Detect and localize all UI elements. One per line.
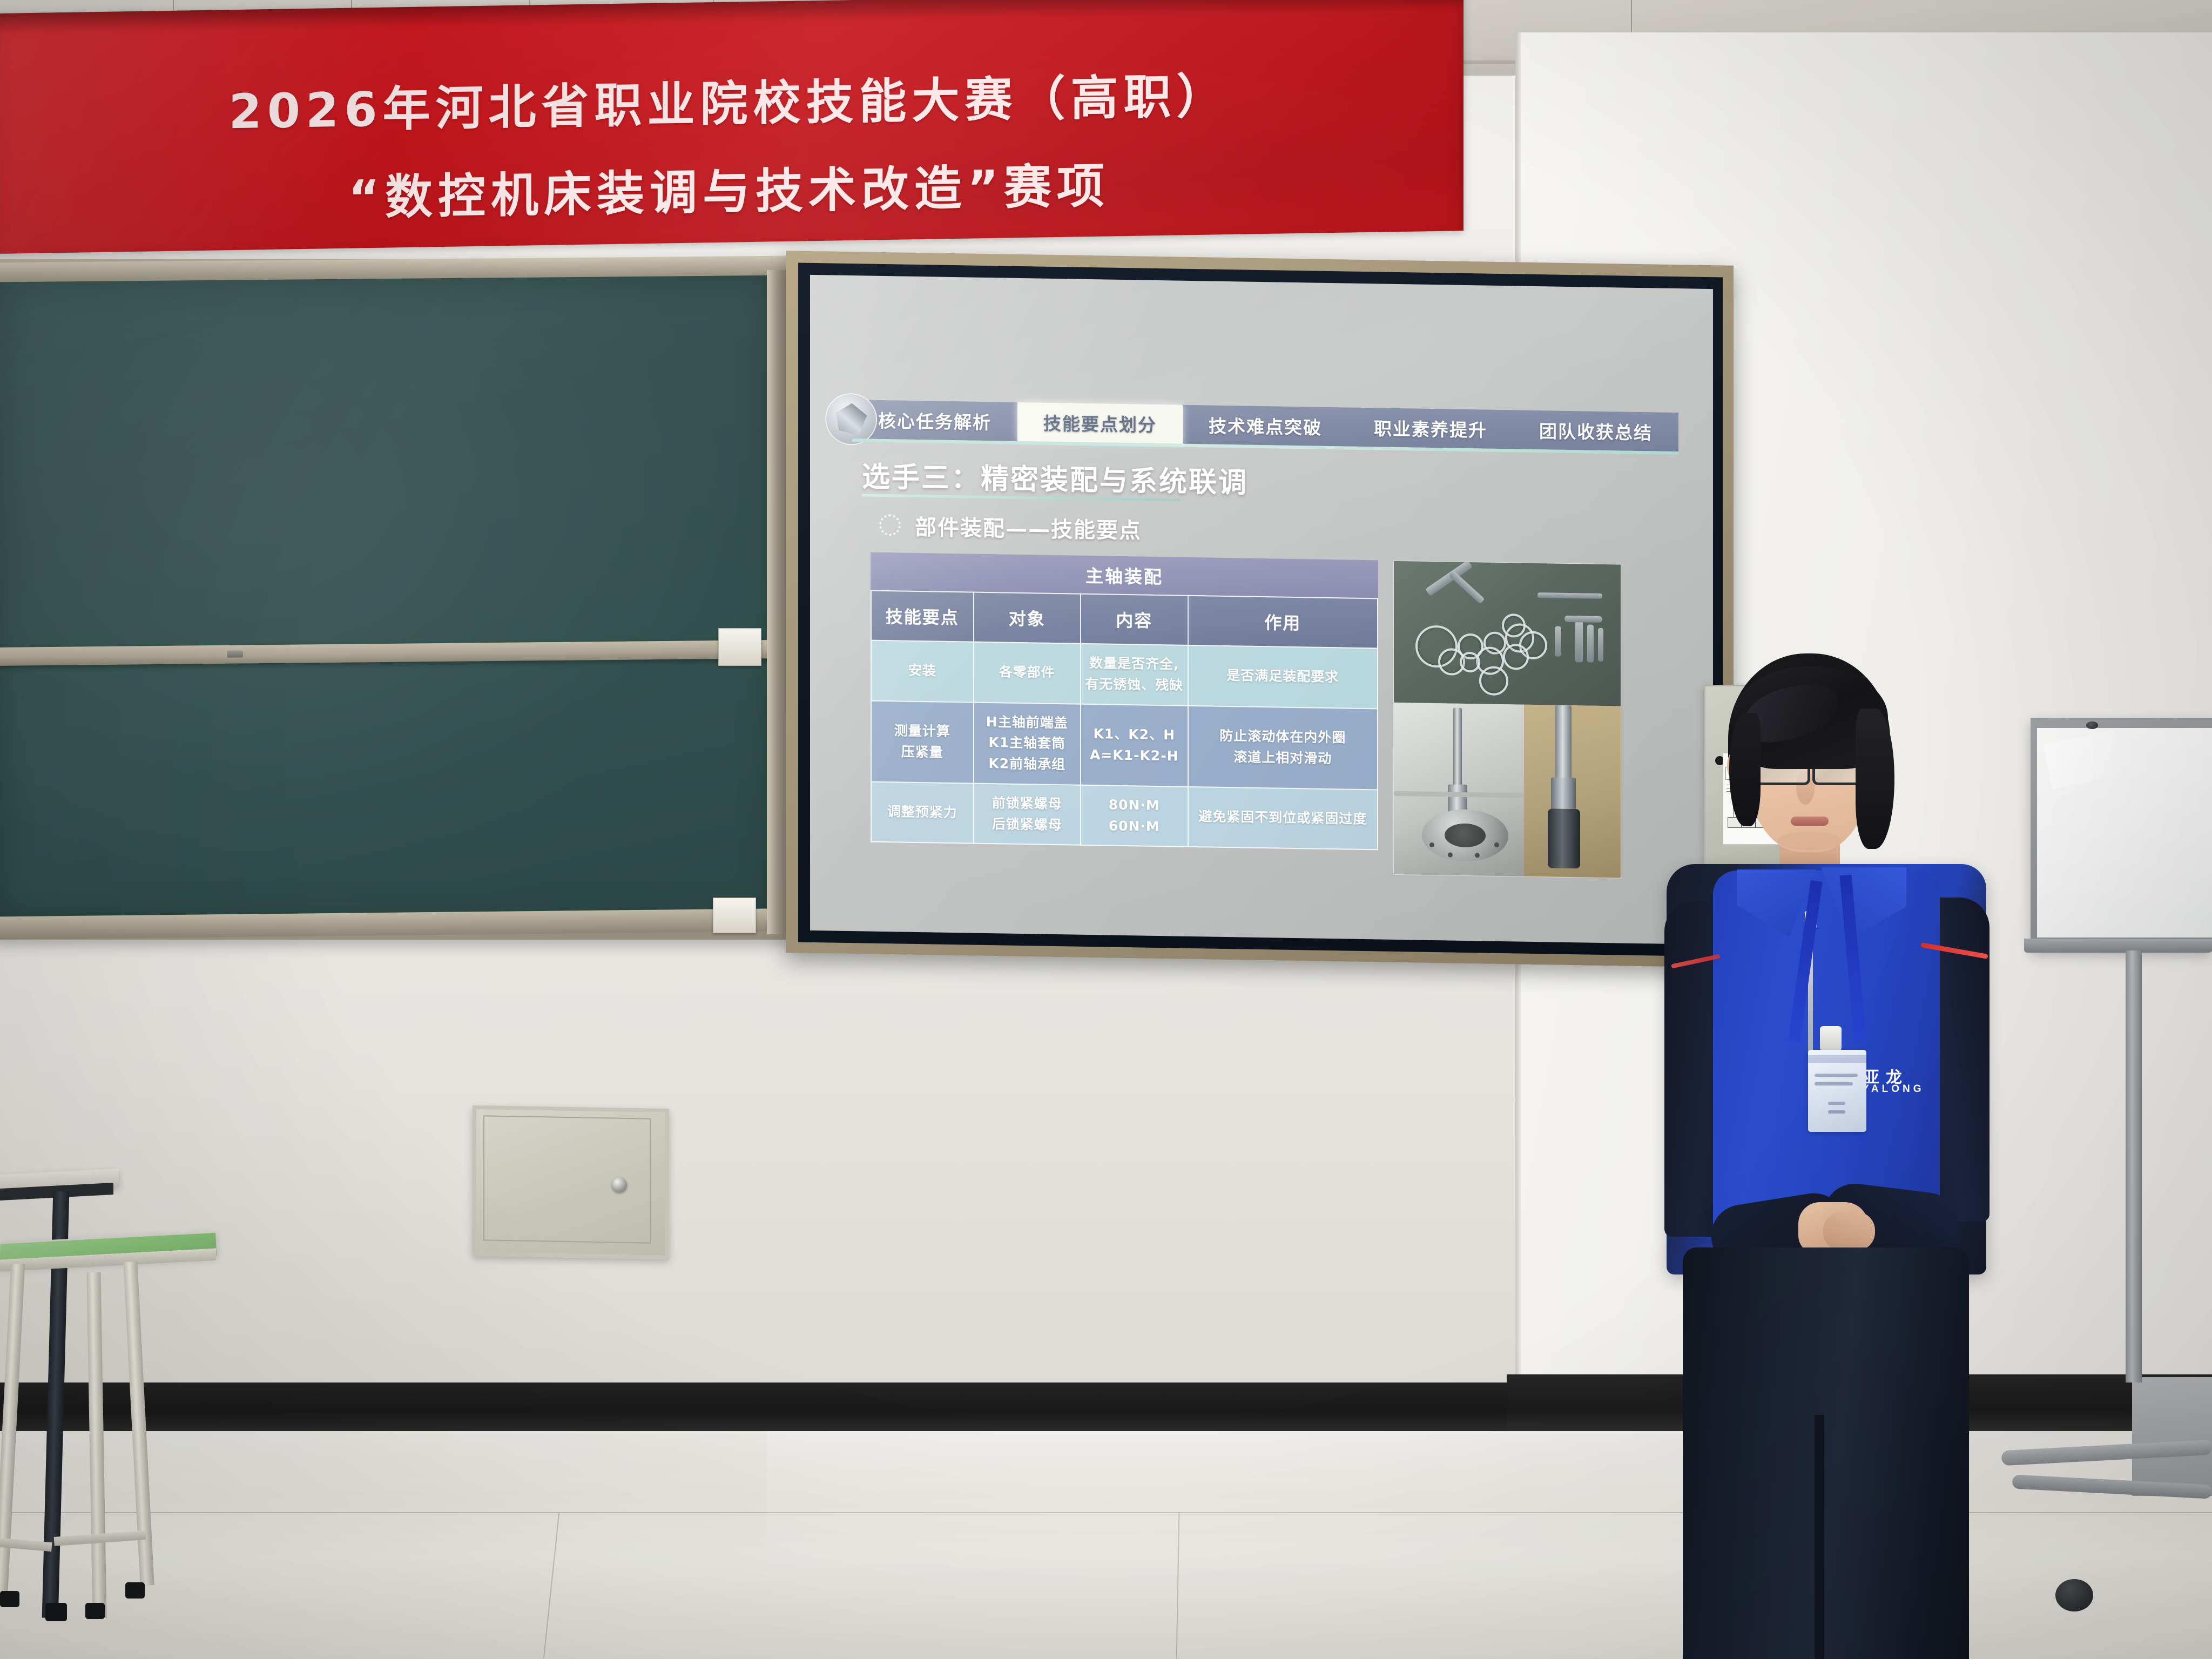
slide-bullet-text: 部件装配——技能要点 — [915, 510, 1142, 545]
table-row: 测量计算压紧量 H主轴前端盖K1主轴套筒K2前轴承组 K1、K2、HA=K1-K… — [871, 700, 1378, 790]
table-row: 安装 各零部件 数量是否齐全,有无锈蚀、残缺 是否满足装配要求 — [871, 640, 1378, 709]
cell-content: K1、K2、HA=K1-K2-H — [1081, 704, 1188, 786]
mouth — [1791, 817, 1829, 826]
projection-screen-surface[interactable]: 核心任务解析 技能要点划分 技术难点突破 职业素养提升 团队收获总结 选手三：精… — [810, 275, 1713, 945]
slide-photo-bottom-row — [1394, 703, 1621, 878]
slide-title: 选手三：精密装配与系统联调 — [862, 454, 1248, 500]
cell-skill-point: 安装 — [871, 640, 974, 702]
stool-foot-cap-2 — [125, 1582, 145, 1599]
hair-side-left — [1729, 713, 1761, 826]
cell-content: 数量是否齐全,有无锈蚀、残缺 — [1081, 644, 1188, 706]
stool-foot-cap-3 — [0, 1591, 19, 1607]
col-header-3: 作用 — [1188, 596, 1378, 649]
blackboard-slide-clip-lower[interactable] — [713, 898, 756, 933]
cell-purpose: 是否满足装配要求 — [1188, 645, 1378, 709]
cell-object: 各零部件 — [974, 642, 1081, 704]
bearing-parts-photo — [1394, 561, 1621, 706]
blackboard-surface — [0, 269, 782, 927]
mobile-whiteboard-surface[interactable] — [2037, 728, 2212, 938]
brand-name-en: YALONG — [1862, 1083, 1925, 1095]
cell-purpose: 避免紧固不到位或紧固过度 — [1188, 787, 1378, 850]
competition-banner: 2026年河北省职业院校技能大赛（高职） “数控机床装调与技术改造”赛项 — [0, 0, 1464, 254]
classroom-scene: 2026年河北省职业院校技能大赛（高职） “数控机床装调与技术改造”赛项 核心任… — [0, 0, 2212, 1659]
slide-photo-column — [1393, 561, 1621, 879]
spindle-assembly-table-wrap: 主轴装配 技能要点 对象 内容 作用 安装 各零部件 — [871, 552, 1378, 851]
cell-skill-point: 测量计算压紧量 — [871, 700, 974, 783]
cell-object: 前锁紧螺母后锁紧螺母 — [974, 783, 1081, 845]
id-badge — [1808, 1050, 1866, 1132]
banner-line-1: 2026年河北省职业院校技能大赛（高职） — [0, 54, 1464, 146]
chin — [1778, 832, 1842, 850]
nav-tab-2[interactable]: 技术难点突破 — [1183, 405, 1348, 447]
wall-access-panel-inner — [483, 1115, 651, 1243]
whiteboard-stand-box — [2132, 1377, 2212, 1496]
whiteboard-stand-post — [2126, 950, 2142, 1382]
dotted-ring-bullet-icon — [879, 514, 901, 536]
torque-wrench-photo — [1524, 705, 1621, 878]
col-header-2: 内容 — [1081, 594, 1188, 645]
presentation-slide: 核心任务解析 技能要点划分 技术难点突破 职业素养提升 团队收获总结 选手三：精… — [810, 275, 1713, 945]
blackboard-right-post — [767, 270, 788, 934]
round-lock-icon[interactable] — [612, 1177, 627, 1192]
spindle-photo-icon — [825, 393, 877, 446]
nav-tab-1[interactable]: 技能要点划分 — [1017, 402, 1183, 444]
col-header-1: 对象 — [974, 592, 1081, 644]
banner-line-2: “数控机床装调与技术改造”赛项 — [0, 142, 1464, 234]
hand-right — [1823, 1212, 1875, 1251]
hair-side-right — [1856, 709, 1894, 849]
whiteboard-caster-wheel — [2055, 1579, 2093, 1611]
trousers — [1683, 1247, 1969, 1659]
spindle-assembly-table: 技能要点 对象 内容 作用 安装 各零部件 数量是否齐全,有无锈蚀、残缺 是否满… — [871, 590, 1378, 851]
slide-nav-bar: 核心任务解析 技能要点划分 技术难点突破 职业素养提升 团队收获总结 — [852, 400, 1678, 451]
blackboard-slide-clip-upper[interactable] — [718, 628, 761, 666]
table-row: 调整预紧力 前锁紧螺母后锁紧螺母 80N·M60N·M 避免紧固不到位或紧固过度 — [871, 781, 1378, 849]
student-presenter: A 亚龙 YALONG — [1663, 648, 1998, 1659]
desk-leg-cap — [45, 1603, 67, 1621]
whiteboard-top-knob — [2086, 721, 2098, 729]
nav-tab-3[interactable]: 职业素养提升 — [1348, 408, 1513, 449]
lanyard-clip — [1820, 1026, 1842, 1051]
cell-object: H主轴前端盖K1主轴套筒K2前轴承组 — [974, 702, 1081, 785]
trouser-leg-split — [1815, 1415, 1824, 1659]
spindle-mounting-photo — [1394, 703, 1524, 876]
whiteboard-marker-tray — [2024, 939, 2212, 953]
cell-purpose: 防止滚动体在内外圈滚道上相对滑动 — [1188, 705, 1378, 790]
table-header-row: 技能要点 对象 内容 作用 — [871, 591, 1378, 649]
cell-skill-point: 调整预紧力 — [871, 781, 974, 843]
slide-bullet-row: 部件装配——技能要点 — [879, 509, 1142, 545]
stool-foot-cap-1 — [85, 1603, 105, 1619]
cell-content: 80N·M60N·M — [1081, 785, 1188, 847]
col-header-0: 技能要点 — [871, 591, 974, 642]
nav-tab-4[interactable]: 团队收获总结 — [1513, 410, 1678, 451]
